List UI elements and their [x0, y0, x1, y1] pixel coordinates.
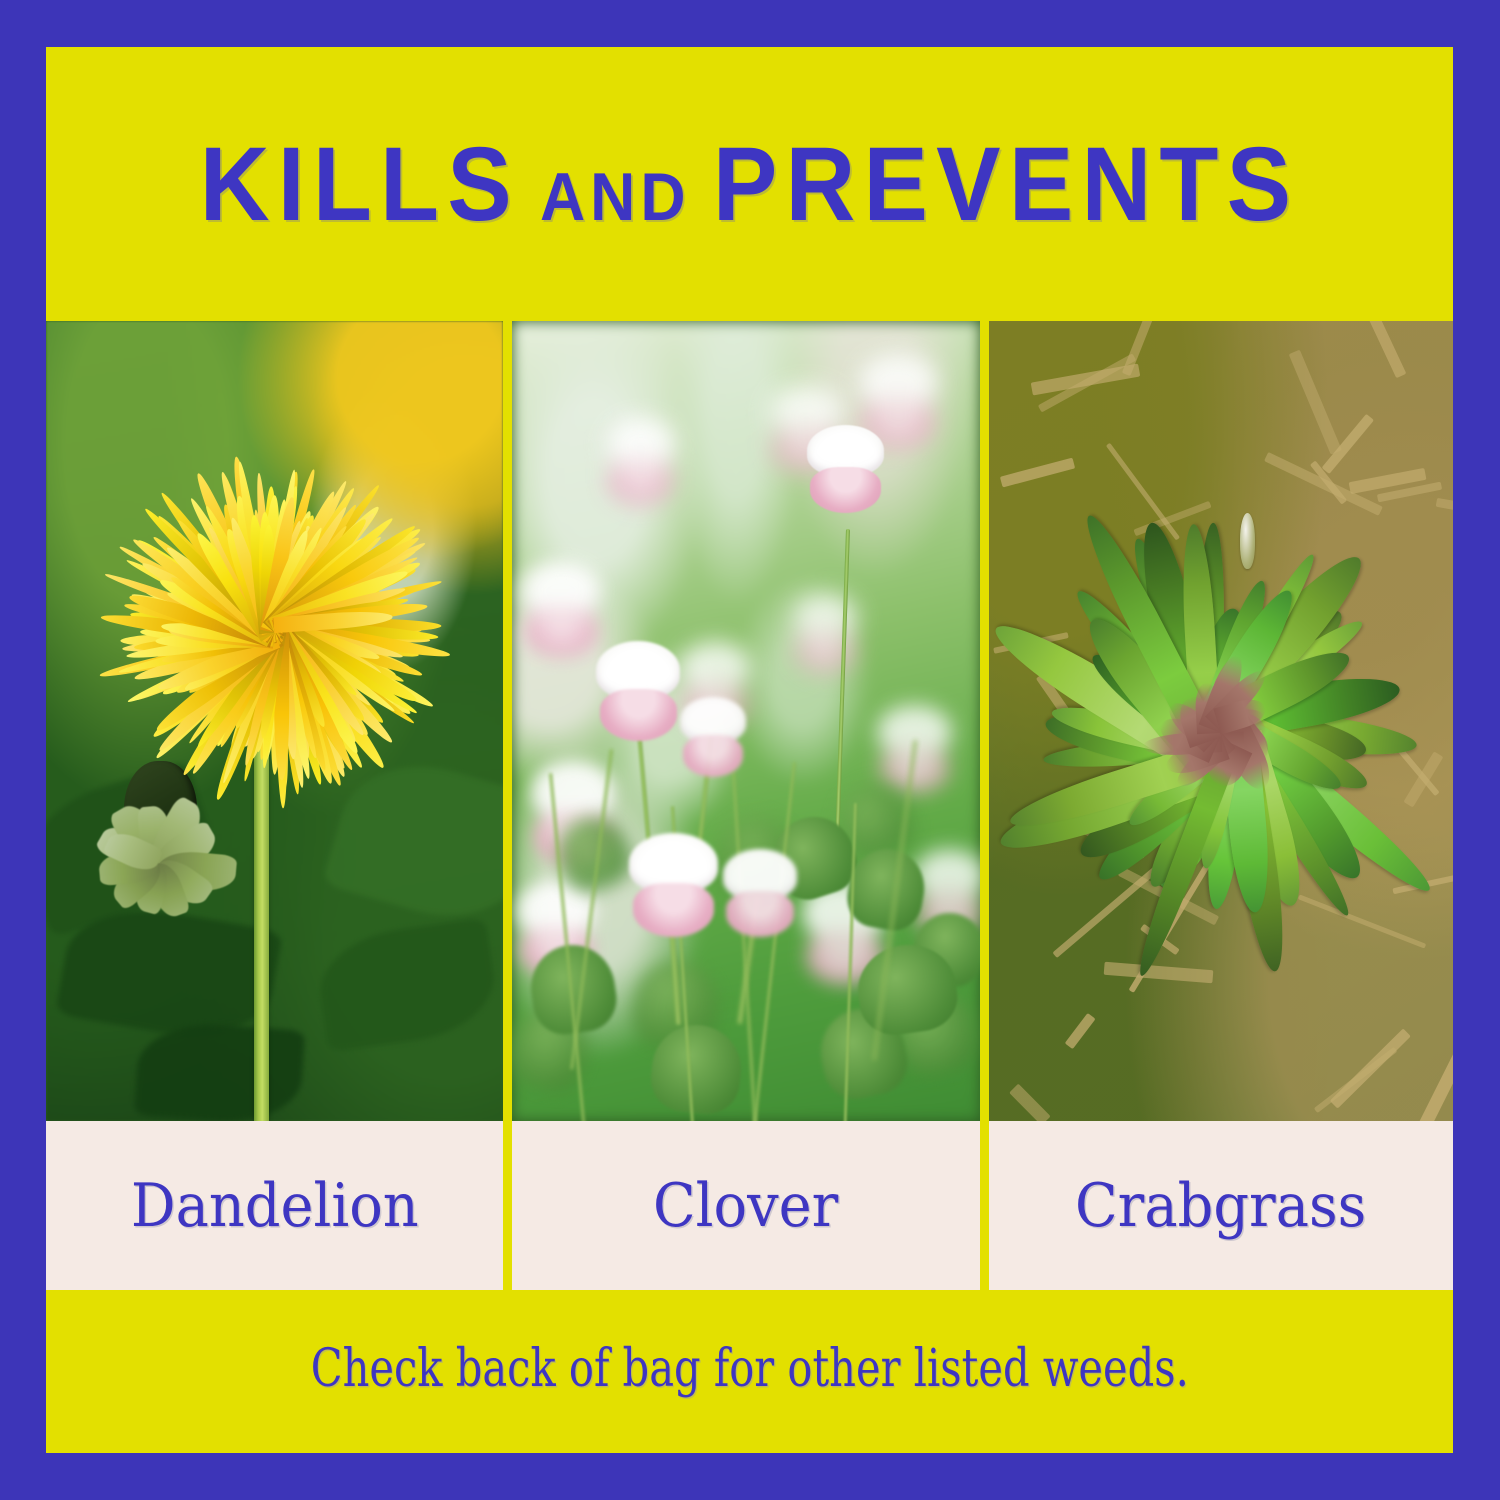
label-cell-clover: Clover — [512, 1121, 980, 1290]
weed-photo-row — [46, 321, 1453, 1121]
poster-inner-panel: KILLS AND PREVENTS — [46, 47, 1453, 1453]
label-cell-crabgrass: Crabgrass — [989, 1121, 1453, 1290]
weed-label-row: Dandelion Clover Crabgrass — [46, 1121, 1453, 1290]
label-cell-dandelion: Dandelion — [46, 1121, 503, 1290]
clover-photo — [512, 321, 980, 1121]
weed-label-clover: Clover — [653, 1176, 838, 1236]
headline: KILLS AND PREVENTS — [200, 132, 1300, 237]
headline-and: AND — [520, 159, 713, 235]
headline-bar: KILLS AND PREVENTS — [46, 47, 1453, 321]
water-droplet — [1240, 513, 1256, 569]
dandelion-bloom — [101, 465, 448, 785]
headline-kills: KILLS — [200, 126, 520, 243]
clover-foreground — [512, 321, 980, 1121]
footer-bar: Check back of bag for other listed weeds… — [46, 1290, 1453, 1453]
footer-note: Check back of bag for other listed weeds… — [310, 1343, 1188, 1395]
weed-label-crabgrass: Crabgrass — [1075, 1176, 1366, 1236]
weed-label-dandelion: Dandelion — [131, 1176, 419, 1236]
headline-prevents: PREVENTS — [713, 126, 1299, 243]
product-feature-poster: KILLS AND PREVENTS — [0, 0, 1500, 1500]
dandelion-photo — [46, 321, 503, 1121]
crabgrass-photo — [989, 321, 1453, 1121]
